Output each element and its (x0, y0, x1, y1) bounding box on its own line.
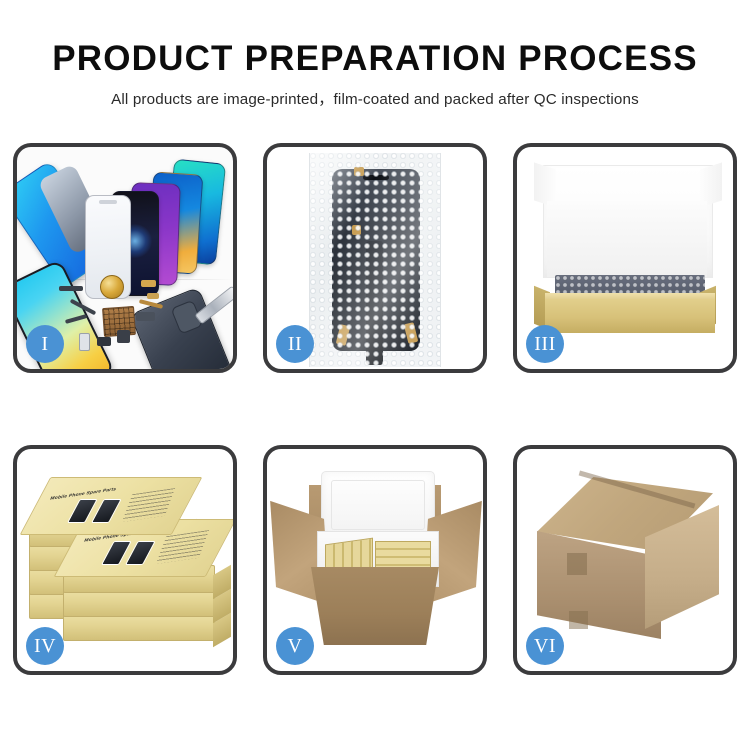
step-panel-4: Mobile Phone Spare Parts Mobile Phone Sp… (13, 445, 237, 675)
label-spec-lines (156, 530, 209, 564)
step-panel-5: V (263, 445, 487, 675)
carton-flap-tab (567, 553, 587, 575)
plastic-sheen (310, 153, 440, 367)
product-preparation-infographic: PRODUCT PREPARATION PROCESS All products… (0, 0, 750, 750)
label-spec-lines (122, 488, 175, 522)
step-badge-1: I (26, 325, 64, 363)
step-badge-4: IV (26, 627, 64, 665)
foam-box-lid (321, 471, 435, 539)
spare-part (59, 286, 83, 291)
carton-front-wall (311, 567, 439, 645)
step-badge-6: VI (526, 627, 564, 665)
copper-coil-part (100, 275, 124, 299)
sealed-carton (531, 469, 723, 649)
box-front-yellow (545, 299, 715, 333)
box-label: Mobile Phone Spare Parts (37, 487, 180, 523)
step-badge-5: V (276, 627, 314, 665)
retail-box (63, 613, 215, 641)
bubble-wrap-bag (309, 153, 441, 367)
retail-box (63, 589, 215, 617)
step-panel-6: VI (513, 445, 737, 675)
process-steps-grid: I II (13, 143, 737, 675)
spare-part (141, 280, 156, 287)
step-panel-2: II (263, 143, 487, 373)
spare-part (136, 312, 155, 321)
step-badge-3: III (526, 325, 564, 363)
retail-box-top-back: Mobile Phone Spare Parts (20, 477, 203, 535)
spare-part (117, 330, 130, 343)
step-panel-1: I (13, 143, 237, 373)
step-badge-2: II (276, 325, 314, 363)
spare-part (147, 293, 159, 299)
header: PRODUCT PREPARATION PROCESS All products… (0, 38, 750, 109)
page-subtitle: All products are image-printed，film-coat… (0, 87, 750, 109)
spare-part (97, 337, 111, 346)
step-panel-3: III (513, 143, 737, 373)
page-title: PRODUCT PREPARATION PROCESS (0, 38, 750, 80)
foam-insert (547, 201, 707, 277)
spare-part (79, 333, 90, 351)
carton-flap-tab (569, 611, 588, 629)
